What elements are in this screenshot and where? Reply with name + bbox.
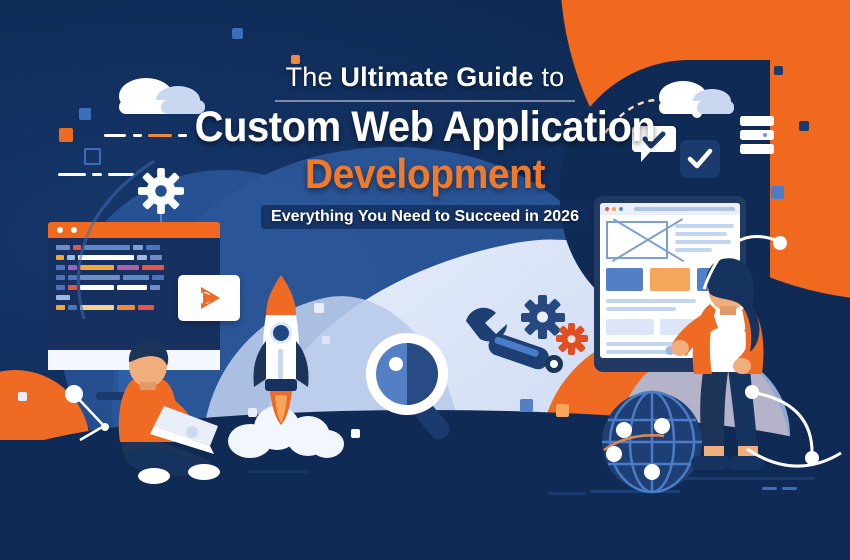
accent-square xyxy=(556,404,569,417)
developer-with-laptop xyxy=(92,330,232,490)
accent-square xyxy=(351,429,360,438)
accent-square xyxy=(322,336,330,344)
accent-square xyxy=(232,28,243,39)
tools-group xyxy=(460,295,600,405)
video-play-card[interactable] xyxy=(178,275,240,321)
wireframe-block-pale xyxy=(606,319,654,335)
title-line-two: Custom Web Application xyxy=(30,105,821,150)
ground-line xyxy=(548,492,586,495)
accent-square xyxy=(18,392,27,401)
title-line-three: Development xyxy=(30,152,821,196)
title-divider xyxy=(275,100,575,102)
wireframe-block-blue xyxy=(606,268,643,291)
title-emphasis: Ultimate Guide xyxy=(340,62,533,92)
hero-title-block: The Ultimate Guide to Custom Web Applica… xyxy=(0,62,850,229)
hero-subtitle: Everything You Need to Succeed in 2026 xyxy=(261,205,589,229)
title-line-one: The Ultimate Guide to xyxy=(0,62,850,93)
title-prefix: The xyxy=(286,62,341,92)
play-icon xyxy=(194,283,224,313)
rocket-icon xyxy=(252,275,310,425)
ground-line xyxy=(248,470,308,473)
title-suffix: to xyxy=(534,62,565,92)
accent-square xyxy=(314,303,324,313)
arc-bottom-right xyxy=(745,445,845,515)
magnifying-glass-icon xyxy=(362,330,472,445)
hero-banner: The Ultimate Guide to Custom Web Applica… xyxy=(0,0,850,560)
